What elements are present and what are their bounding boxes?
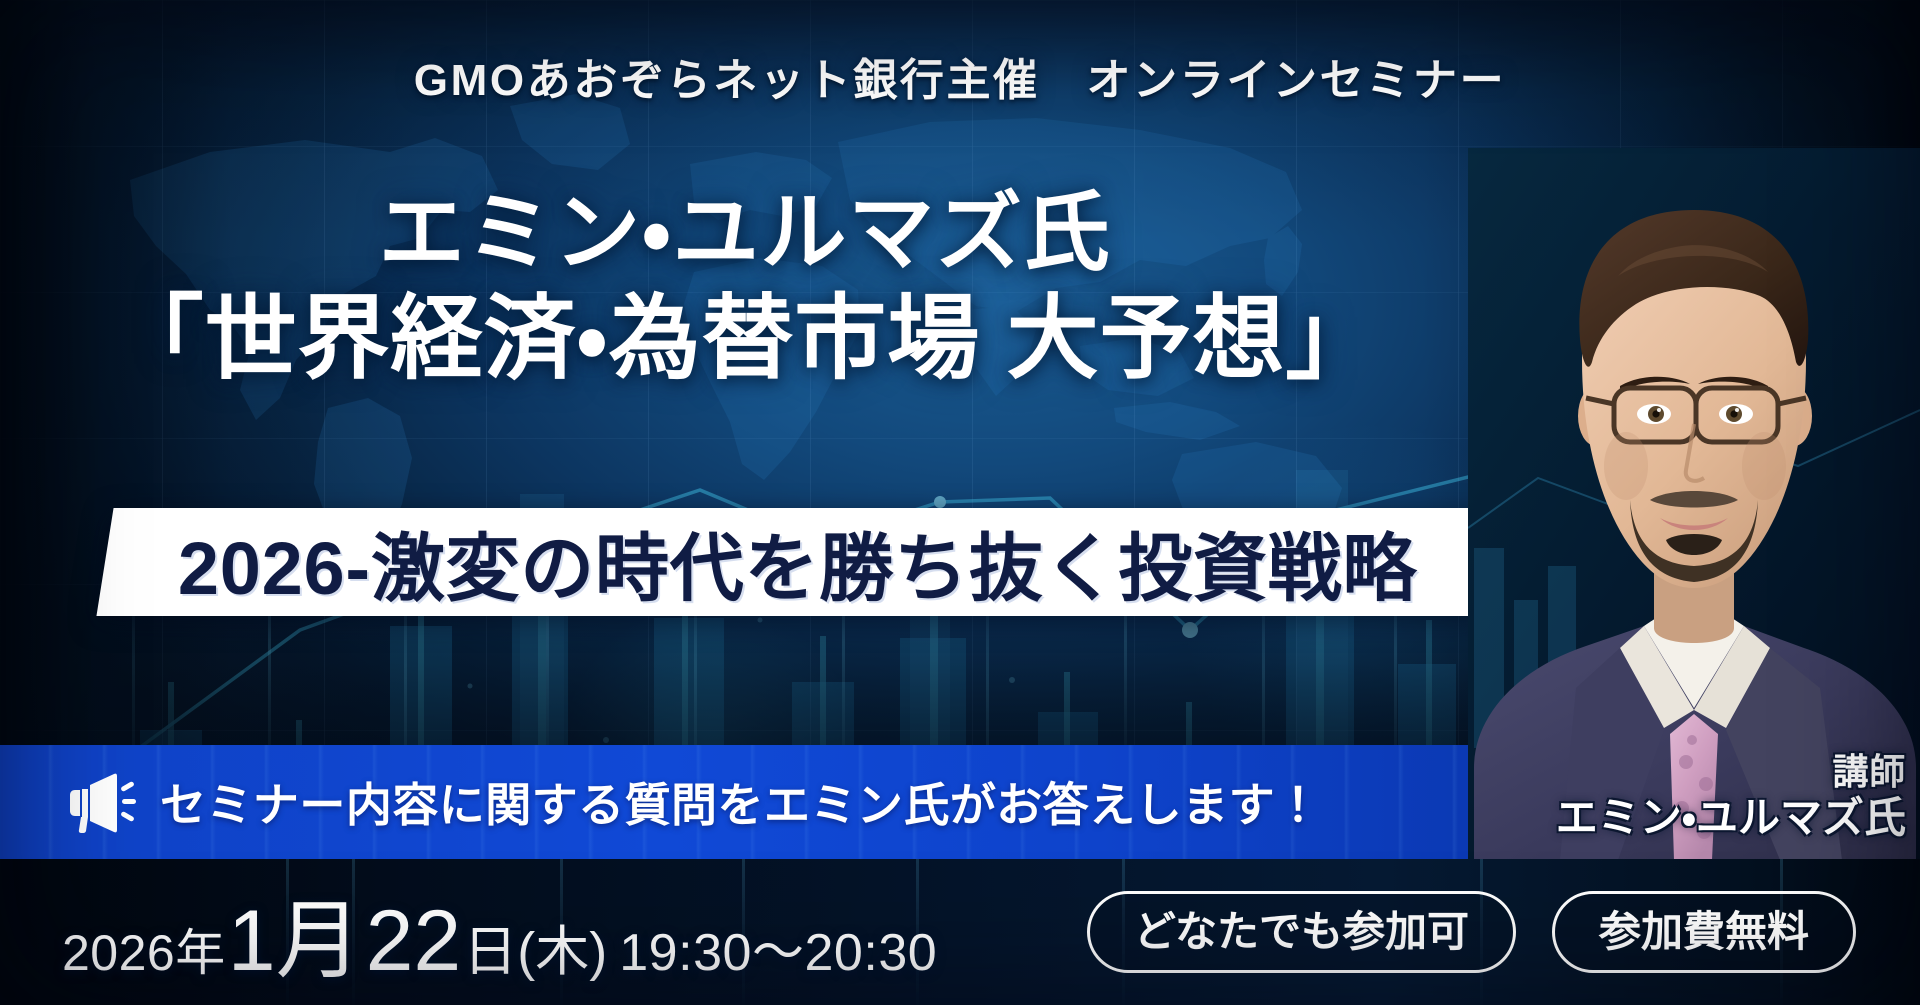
highlight-band-shape bbox=[96, 508, 1498, 616]
qa-callout-bar: セミナー内容に関する質問をエミン氏がお答えします！ bbox=[0, 745, 1468, 859]
organizer-header: GMOあおぞらネット銀行主催 オンラインセミナー bbox=[0, 44, 1920, 108]
event-day-suffix: 日(木) bbox=[463, 907, 607, 986]
speaker-role-label: 講師 bbox=[1556, 752, 1906, 792]
footer-bar: 2026年 1月 22 日(木) 19:30〜20:30 どなたでも参加可 参加… bbox=[0, 859, 1920, 1005]
page-title-line-1: エミン・ユルマズ氏 bbox=[0, 185, 1490, 281]
seminar-banner: GMOあおぞらネット銀行主催 オンラインセミナー エミン・ユルマズ氏 「世界経済… bbox=[0, 0, 1920, 1005]
qa-callout-text: セミナー内容に関する質問をエミン氏がお答えします！ bbox=[160, 769, 1322, 835]
speaker-name-label: エミン・ユルマズ氏 bbox=[1556, 794, 1906, 841]
event-day-number: 22 bbox=[364, 892, 464, 991]
megaphone-icon bbox=[62, 771, 138, 833]
event-year: 2026年 bbox=[62, 913, 226, 985]
badge-open-to-anyone[interactable]: どなたでも参加可 bbox=[1087, 891, 1516, 974]
event-month: 1月 bbox=[226, 870, 364, 995]
event-datetime: 2026年 1月 22 日(木) 19:30〜20:30 bbox=[62, 870, 937, 995]
footer-badges: どなたでも参加可 参加費無料 bbox=[1087, 891, 1856, 974]
title-block: エミン・ユルマズ氏 「世界経済・為替市場 大予想」 bbox=[0, 185, 1490, 391]
speaker-caption: 講師 エミン・ユルマズ氏 bbox=[1556, 752, 1906, 841]
page-title-line-2: 「世界経済・為替市場 大予想」 bbox=[0, 289, 1490, 390]
event-time-range: 19:30〜20:30 bbox=[619, 910, 937, 985]
badge-free-entry[interactable]: 参加費無料 bbox=[1552, 891, 1856, 974]
